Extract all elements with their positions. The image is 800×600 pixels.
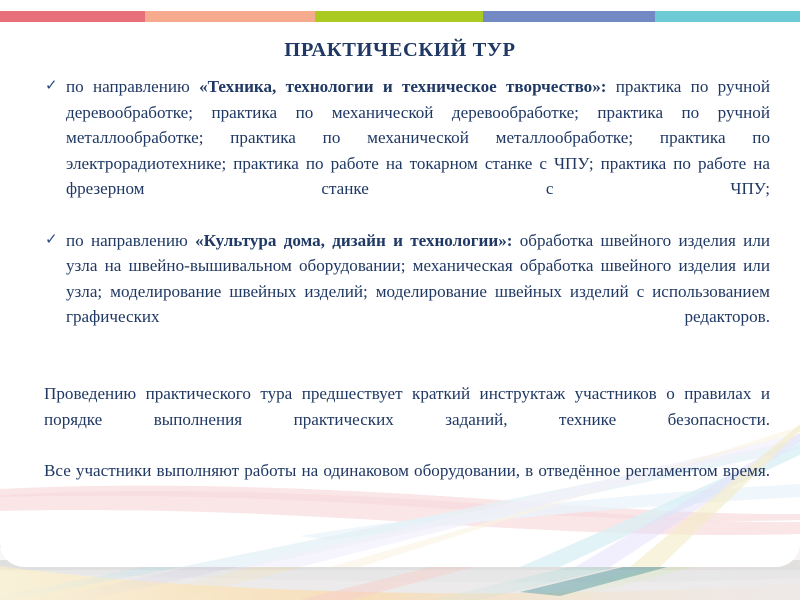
bullet-item-technika: ✓по направлению «Техника, технологии и т…	[44, 74, 770, 228]
bullet-lead-text: по направлению	[66, 77, 199, 96]
paragraph-oborudovanie: Все участники выполняют работы на одинак…	[44, 458, 770, 509]
slide-content: ПРАКТИЧЕСКИЙ ТУР ✓по направлению «Техник…	[0, 0, 800, 600]
bullet-lead-text: по направлению	[66, 231, 195, 250]
bullet-item-kultura-doma: ✓по направлению «Культура дома, дизайн и…	[44, 228, 770, 356]
paragraph-instruktazh: Проведению практического тура предшеству…	[44, 381, 770, 458]
check-icon: ✓	[45, 73, 58, 99]
bullet-strong-text: «Культура дома, дизайн и технологии»:	[195, 231, 512, 250]
bullet-strong-text: «Техника, технологии и техническое творч…	[199, 77, 606, 96]
paragraph-spacer	[44, 356, 770, 382]
check-icon: ✓	[45, 227, 58, 253]
page-title: ПРАКТИЧЕСКИЙ ТУР	[0, 39, 800, 62]
slide: ПРАКТИЧЕСКИЙ ТУР ✓по направлению «Техник…	[0, 0, 800, 600]
body-text-block: ✓по направлению «Техника, технологии и т…	[44, 74, 770, 509]
